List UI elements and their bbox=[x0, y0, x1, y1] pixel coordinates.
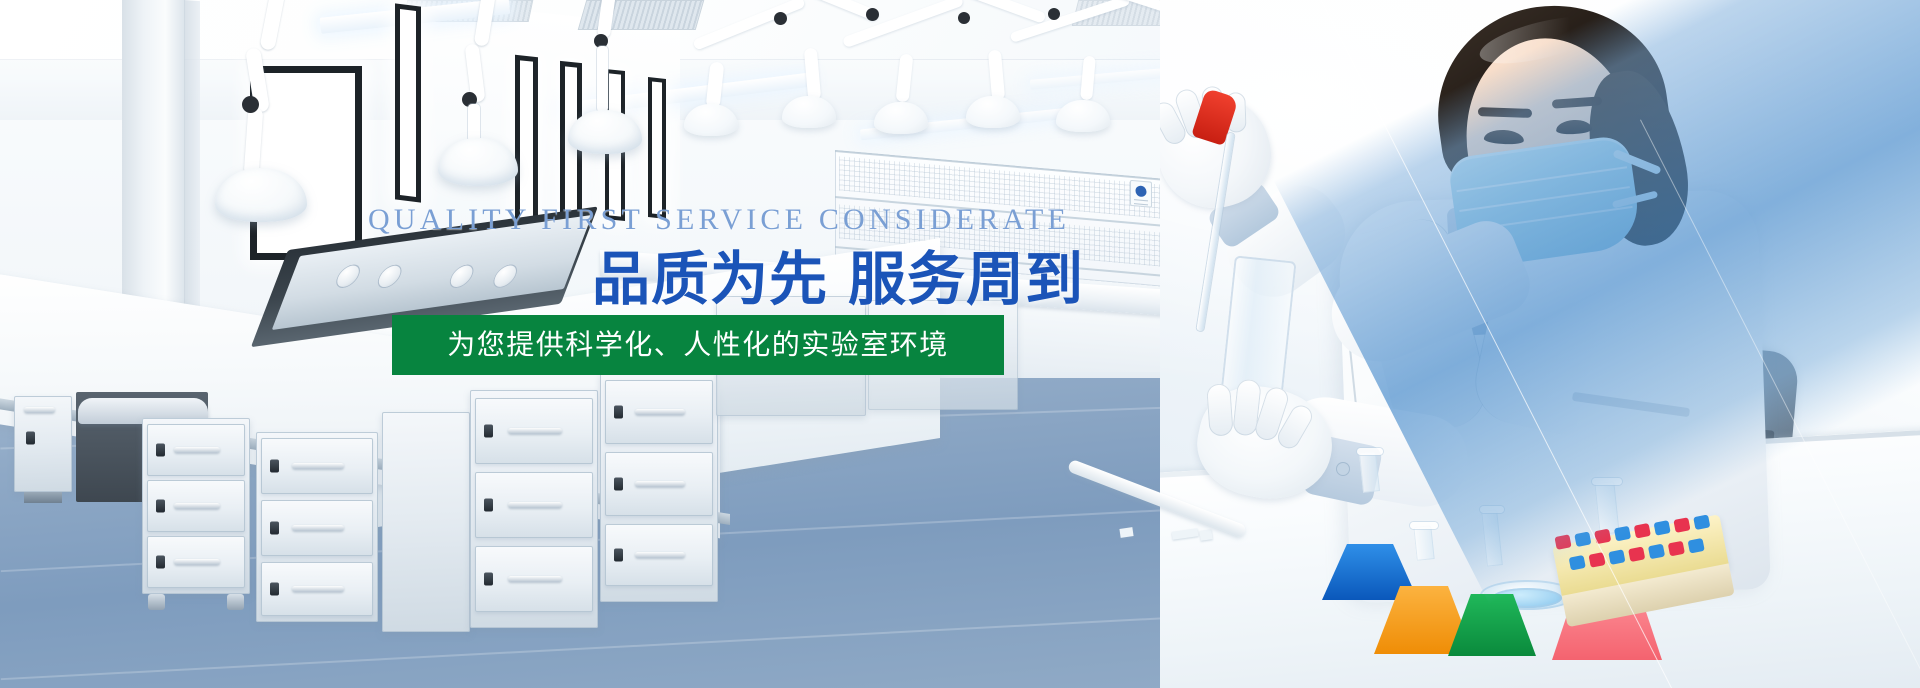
cuff-button bbox=[1336, 462, 1350, 476]
drawer-lock-icon bbox=[484, 573, 493, 586]
flask-lip bbox=[1592, 478, 1623, 485]
drawer-handle[interactable] bbox=[174, 559, 219, 565]
service-arm bbox=[1080, 56, 1096, 101]
tube-cap bbox=[1688, 538, 1705, 554]
drawer-lock-icon bbox=[270, 522, 279, 535]
lamp-shade-icon bbox=[782, 96, 836, 128]
drawer-handle[interactable] bbox=[635, 481, 685, 487]
headline-part-1: 品质为先 bbox=[592, 247, 828, 312]
drawer[interactable] bbox=[605, 452, 713, 516]
tube-cap bbox=[1574, 531, 1591, 547]
eyebrow bbox=[1478, 107, 1532, 118]
lab-window bbox=[395, 3, 421, 202]
lamp-joint bbox=[1048, 8, 1060, 20]
drawer-handle[interactable] bbox=[635, 552, 685, 558]
flask-lip bbox=[1480, 506, 1505, 513]
drawer[interactable] bbox=[147, 424, 245, 476]
sign-line bbox=[1134, 199, 1148, 201]
tube-cap bbox=[1648, 544, 1665, 560]
service-outlet bbox=[490, 263, 521, 289]
headline-part-2: 服务周到 bbox=[848, 247, 1084, 312]
drawer-lock-icon bbox=[484, 499, 493, 512]
cabinet-kickplate bbox=[24, 492, 62, 503]
drawer-pedestal bbox=[256, 432, 378, 622]
drawer[interactable] bbox=[605, 380, 713, 444]
tube-cap bbox=[1569, 555, 1586, 571]
drawer-lock-icon bbox=[270, 583, 279, 596]
drawer-lock-icon bbox=[614, 406, 623, 419]
flask-lip bbox=[1410, 522, 1438, 529]
cabinet-caster bbox=[148, 594, 165, 610]
subtitle-banner: 为您提供科学化、人性化的实验室环境 bbox=[392, 315, 1004, 375]
drawer[interactable] bbox=[147, 536, 245, 588]
drawer-pedestal bbox=[142, 418, 250, 594]
drawer[interactable] bbox=[261, 500, 373, 556]
drawer-lock-icon bbox=[156, 556, 165, 569]
hero-banner: QUALITY FIRST SERVICE CONSIDERATE 品质为先服务… bbox=[0, 0, 1920, 688]
tube-cap bbox=[1588, 552, 1605, 568]
drawer[interactable] bbox=[475, 546, 593, 612]
microscope-slide bbox=[1119, 527, 1133, 538]
lamp-shade-icon bbox=[684, 104, 738, 136]
tube-cap bbox=[1668, 541, 1685, 557]
floor-seam bbox=[1, 614, 1229, 680]
lab-window bbox=[515, 55, 538, 225]
drawer-handle[interactable] bbox=[508, 428, 562, 434]
sign-line bbox=[1134, 203, 1148, 205]
drawer-lock-icon bbox=[156, 500, 165, 513]
drawer-handle[interactable] bbox=[174, 447, 219, 453]
drawer-pedestal bbox=[470, 390, 598, 628]
tube-cap bbox=[1654, 520, 1671, 536]
drawer-lock-icon bbox=[484, 425, 493, 438]
mask-pleat bbox=[1456, 166, 1627, 192]
lab-cabinet bbox=[14, 396, 72, 492]
flask-liquid bbox=[1448, 594, 1536, 656]
lamp-shade-icon bbox=[874, 102, 928, 134]
lamp-joint bbox=[242, 96, 259, 113]
drawer[interactable] bbox=[475, 398, 593, 464]
lamp-stem bbox=[597, 46, 608, 112]
ceiling-vent-icon bbox=[578, 0, 705, 30]
service-arm bbox=[706, 61, 725, 108]
lamp-joint bbox=[958, 12, 970, 24]
glove-finger bbox=[1206, 383, 1234, 437]
cabinet-handle bbox=[24, 407, 54, 413]
service-outlet bbox=[446, 263, 477, 289]
drawer-handle[interactable] bbox=[508, 502, 562, 508]
lamp-shade-icon bbox=[966, 96, 1020, 128]
drawer-lock-icon bbox=[156, 444, 165, 457]
drawer[interactable] bbox=[261, 438, 373, 494]
drawer-handle[interactable] bbox=[635, 409, 685, 415]
lab-window bbox=[648, 77, 666, 219]
lamp-joint bbox=[774, 12, 787, 25]
subtitle-text: 为您提供科学化、人性化的实验室环境 bbox=[447, 329, 949, 361]
service-arm bbox=[896, 53, 914, 102]
lab-cabinet-panel bbox=[382, 412, 470, 632]
lamp-shade-icon bbox=[1056, 100, 1110, 132]
safety-sign-icon bbox=[1130, 180, 1152, 208]
tube-cap bbox=[1634, 523, 1651, 539]
microscope-slide bbox=[1199, 529, 1212, 541]
drawer-pedestal bbox=[600, 372, 718, 602]
flask-neck bbox=[1413, 525, 1434, 561]
tube-cap bbox=[1673, 517, 1690, 533]
drawer-handle[interactable] bbox=[292, 525, 344, 531]
tube-cap bbox=[1608, 549, 1625, 565]
drawer-handle[interactable] bbox=[292, 586, 344, 592]
cabinet-caster bbox=[227, 594, 244, 610]
drawer[interactable] bbox=[605, 524, 713, 586]
cabinet-lock-icon bbox=[26, 432, 35, 445]
service-arm bbox=[692, 0, 806, 51]
mask-pleat bbox=[1459, 186, 1630, 212]
drawer-handle[interactable] bbox=[292, 463, 344, 469]
drawer-lock-icon bbox=[614, 549, 623, 562]
lamp-stem bbox=[468, 104, 480, 142]
drawer-handle[interactable] bbox=[174, 503, 219, 509]
tube-cap bbox=[1628, 546, 1645, 562]
tube-cap bbox=[1594, 529, 1611, 545]
main-headline: 品质为先服务周到 bbox=[592, 248, 1084, 312]
drawer[interactable] bbox=[147, 480, 245, 532]
erlenmeyer-flask-green bbox=[1448, 562, 1536, 656]
lamp-joint bbox=[866, 8, 879, 21]
tube-cap bbox=[1693, 514, 1710, 530]
flask-lip bbox=[1357, 448, 1384, 455]
drawer-lock-icon bbox=[270, 460, 279, 473]
service-outlet bbox=[374, 263, 405, 289]
tube-cap bbox=[1554, 534, 1571, 550]
tube-cap bbox=[1614, 526, 1631, 542]
service-arm bbox=[804, 48, 821, 101]
drawer[interactable] bbox=[261, 562, 373, 616]
service-arm bbox=[988, 50, 1005, 101]
english-tagline: QUALITY FIRST SERVICE CONSIDERATE bbox=[368, 203, 1028, 237]
drawer-lock-icon bbox=[614, 478, 623, 491]
drawer[interactable] bbox=[475, 472, 593, 538]
service-outlet bbox=[333, 263, 364, 289]
sign-symbol bbox=[1136, 185, 1147, 197]
drawer-handle[interactable] bbox=[508, 576, 562, 582]
